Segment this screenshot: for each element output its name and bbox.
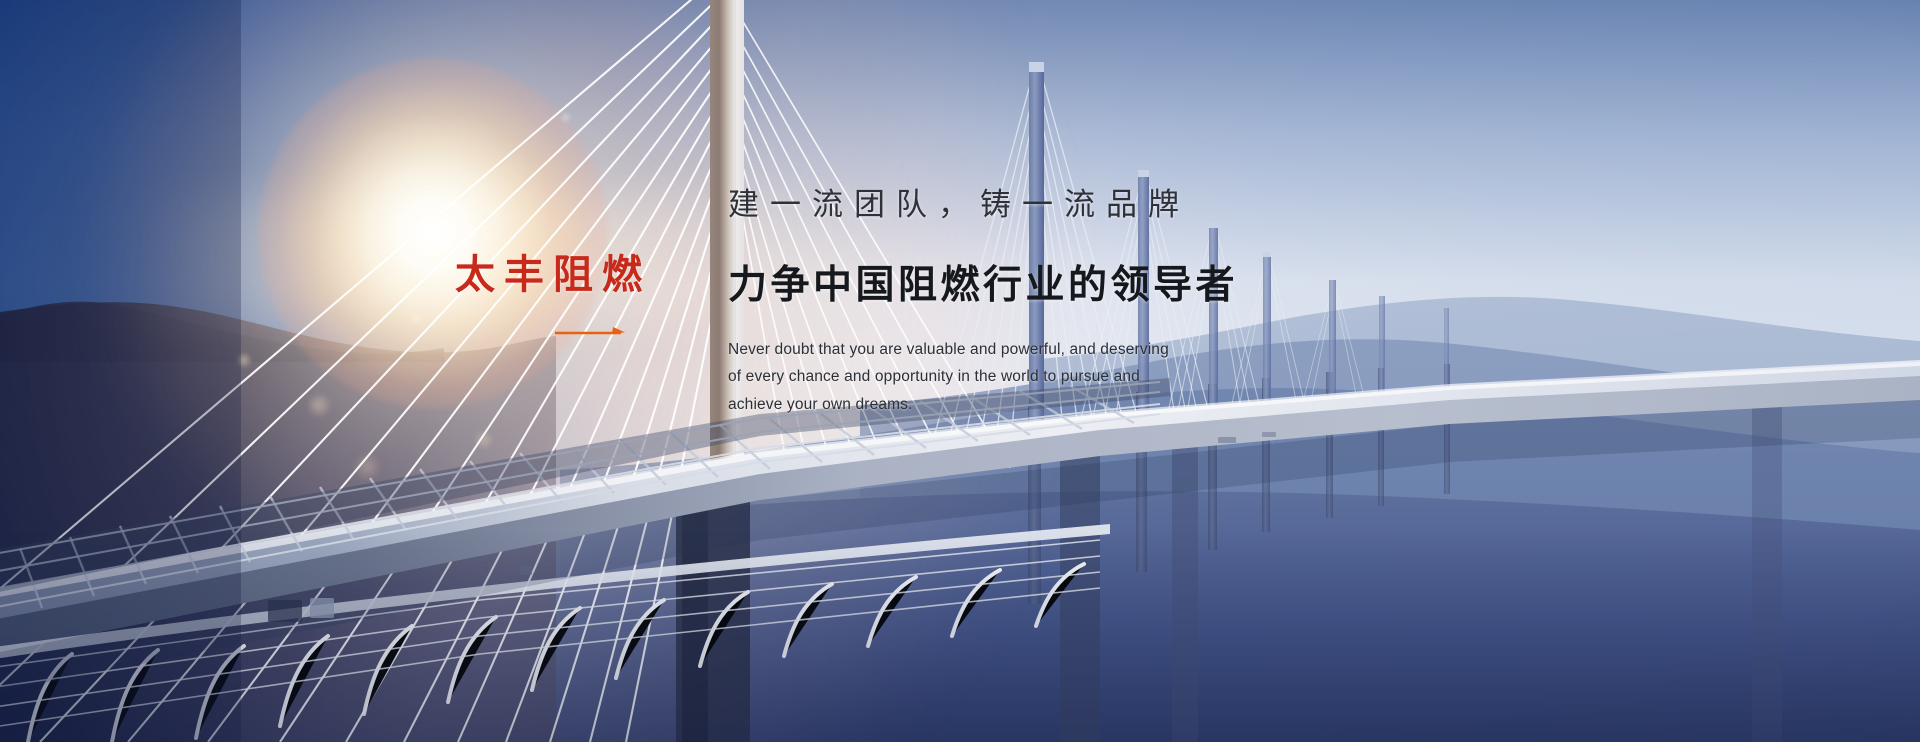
bottom-haze-overlay: [0, 532, 1920, 742]
arrow-right-icon: [555, 325, 631, 339]
hero-description-line-3: achieve your own dreams.: [728, 391, 1388, 419]
hero-description: Never doubt that you are valuable and po…: [728, 336, 1388, 419]
hero-description-line-1: Never doubt that you are valuable and po…: [728, 336, 1388, 364]
headline-subtitle: 建一流团队，铸一流品牌: [728, 186, 1388, 225]
brand-wordmark: 太丰阻燃: [455, 255, 695, 295]
hero-banner: 太丰阻燃 建一流团队，铸一流品牌 力争中国阻燃行业的领导者 Never doub…: [0, 0, 1920, 742]
hero-description-line-2: of every chance and opportunity in the w…: [728, 363, 1388, 391]
headline-title: 力争中国阻燃行业的领导者: [728, 263, 1388, 310]
brand-logo[interactable]: 太丰阻燃: [455, 255, 695, 355]
hero-text-block: 建一流团队，铸一流品牌 力争中国阻燃行业的领导者 Never doubt tha…: [728, 186, 1388, 418]
